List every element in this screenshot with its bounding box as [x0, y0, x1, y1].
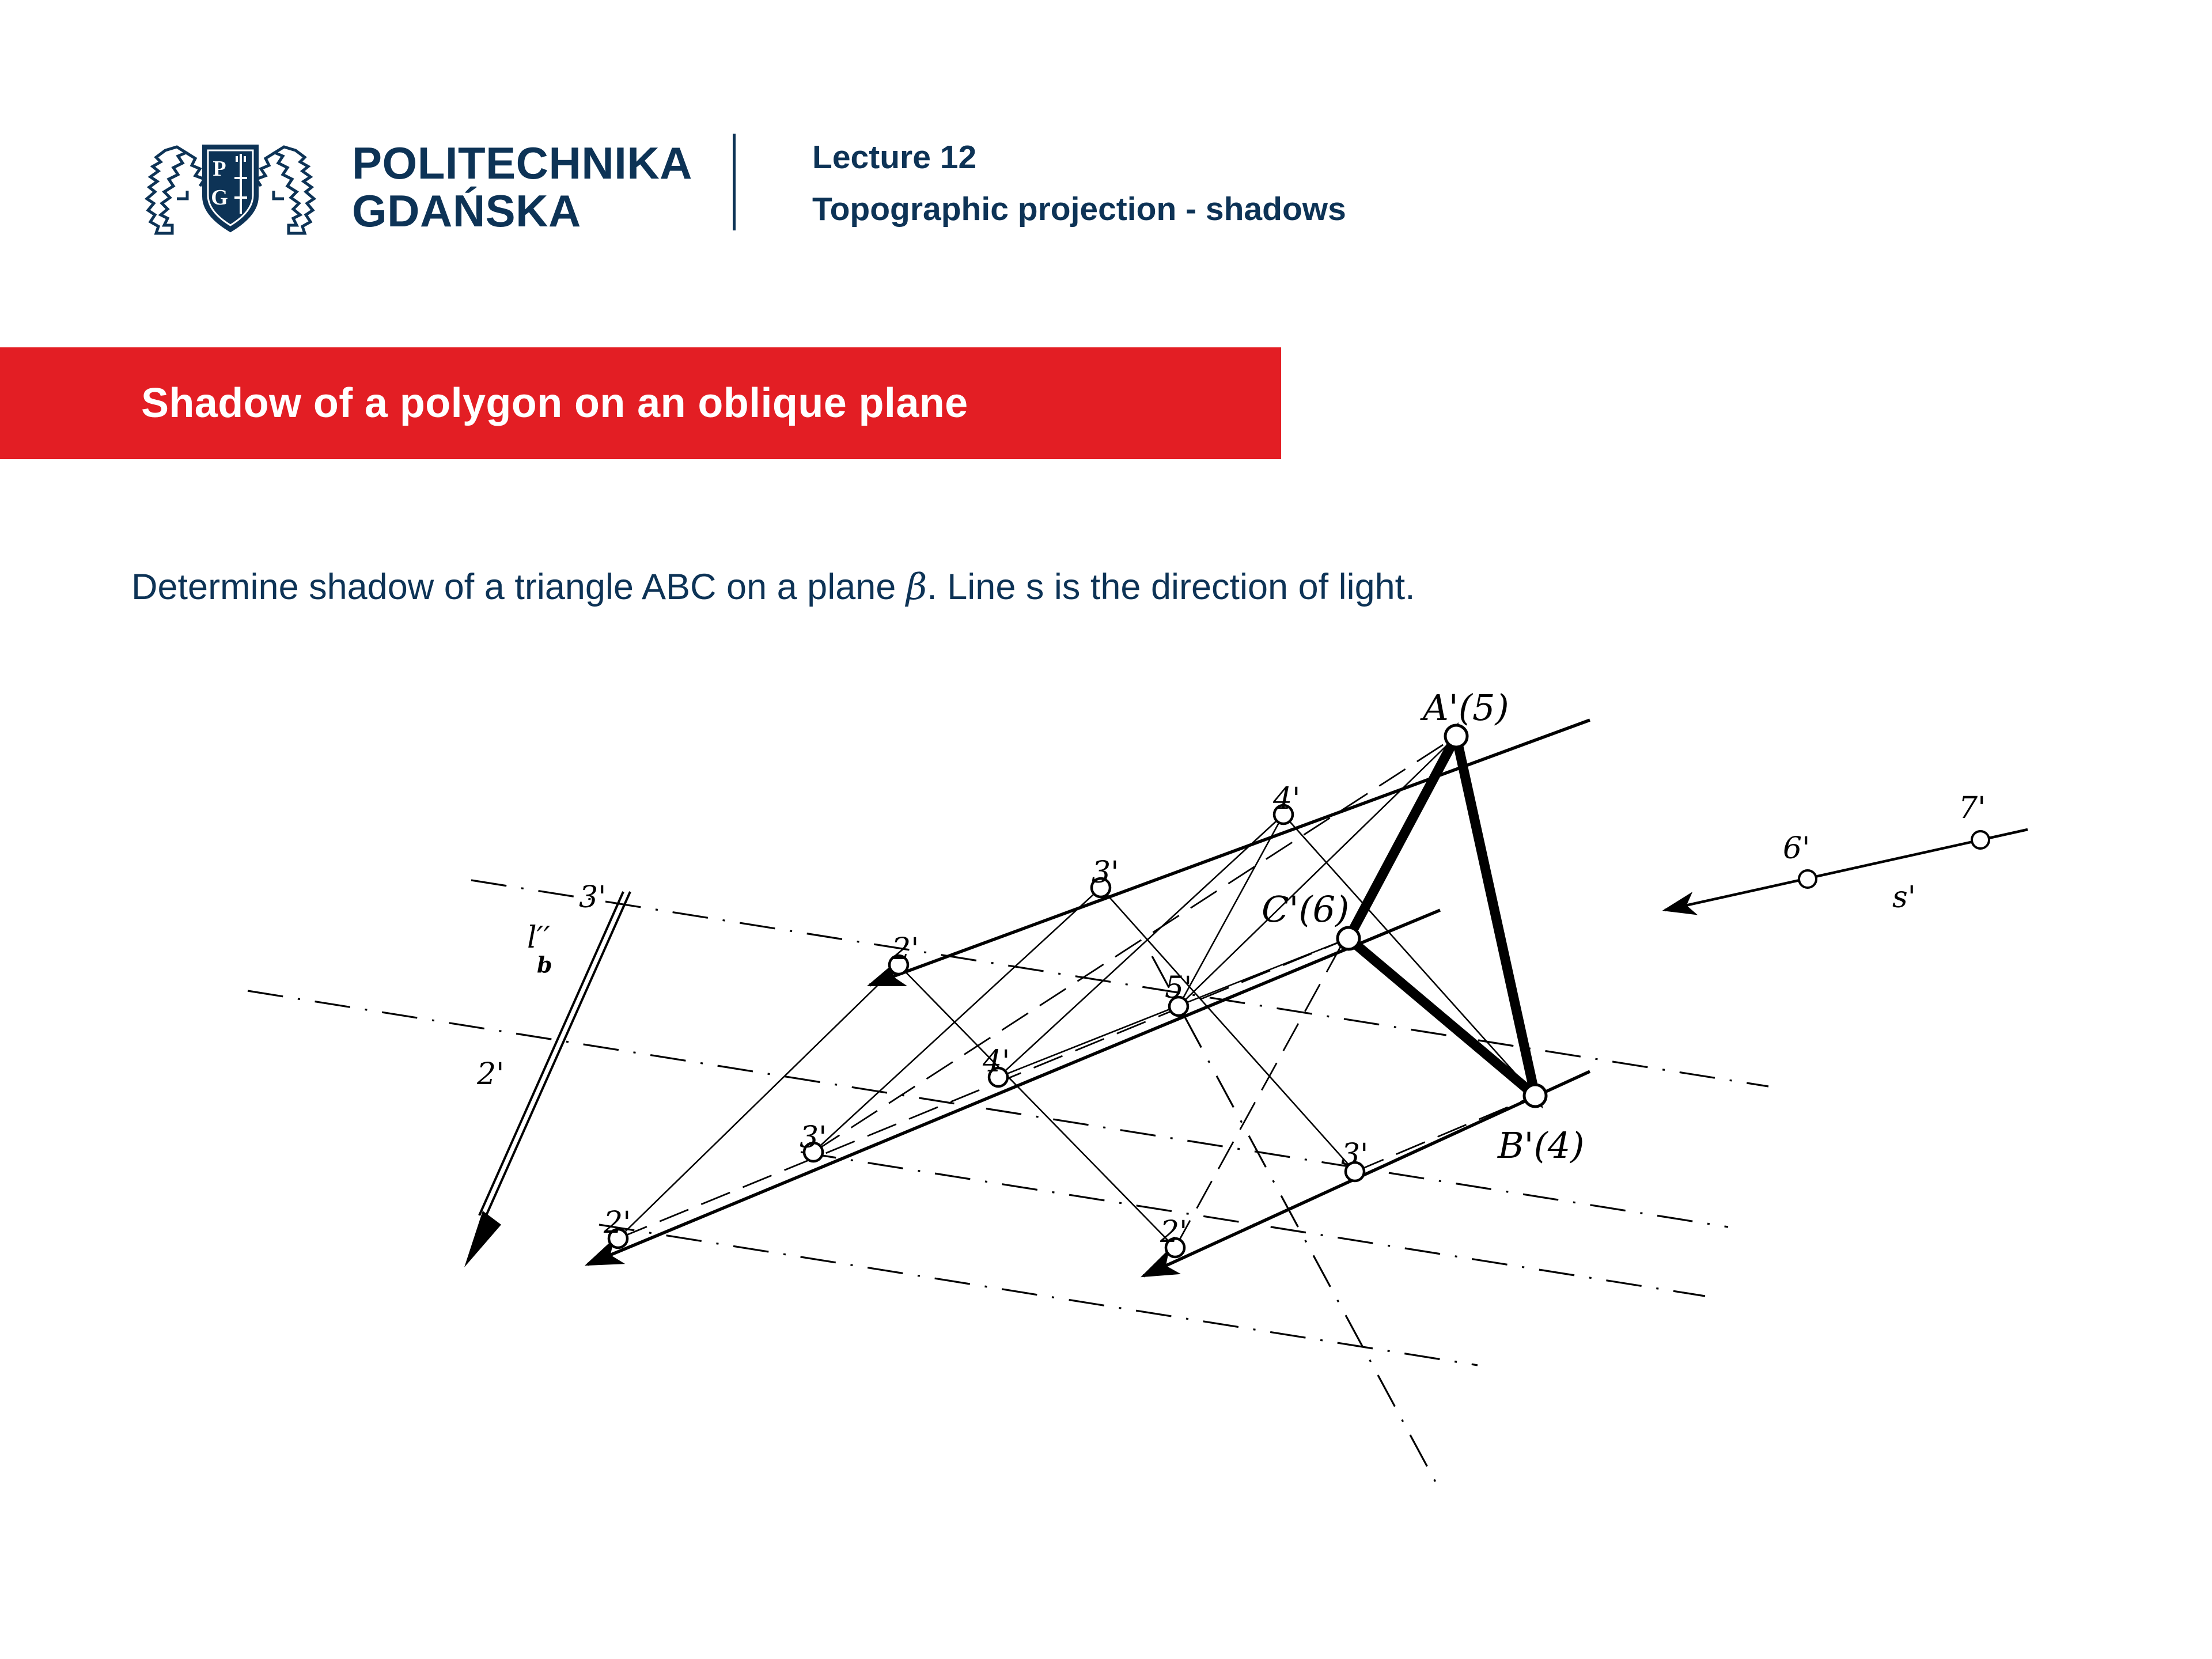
scale-line-lower — [588, 910, 1440, 1264]
university-logo-block: P G POLITECHNIKA GDAŃSKA — [135, 130, 717, 245]
projection-construction-lines — [618, 736, 1535, 1248]
contour-line-3 — [471, 880, 1768, 1086]
lecture-info: Lecture 12 Topographic projection - shad… — [812, 131, 1346, 235]
tick-label-5: 5' — [1165, 971, 1192, 1005]
svg-text:P: P — [213, 157, 226, 181]
technical-drawing: A'(5) B'(4) C'(6) 7' 6' s' l′′ b 3' 2' 2… — [0, 588, 2212, 1486]
tick-label-4: 4' — [1272, 782, 1300, 816]
vertex-marker-B — [1524, 1085, 1546, 1107]
point-6-on-s — [1799, 870, 1816, 888]
tick-label-6: 4' — [982, 1044, 1010, 1079]
tick-label-3: 3' — [1092, 855, 1119, 890]
section-title-bar: Shadow of a polygon on an oblique plane — [0, 347, 1281, 459]
shadow-ray-lines — [618, 736, 1535, 1248]
label-lb-subscript: b — [537, 952, 552, 978]
construction-svg: A'(5) B'(4) C'(6) 7' 6' s' l′′ b 3' 2' 2… — [0, 588, 2212, 1486]
tick-label-2: 2' — [891, 932, 919, 967]
tick-label-10: 3' — [1341, 1138, 1368, 1172]
page-title: Shadow of a polygon on an oblique plane — [141, 380, 968, 427]
slide-header: P G POLITECHNIKA GDAŃSKA Lecture 12 Topo… — [0, 0, 2212, 300]
label-B: B'(4) — [1497, 1124, 1584, 1166]
svg-text:G: G — [211, 185, 228, 210]
university-name: POLITECHNIKA GDAŃSKA — [352, 139, 692, 234]
label-lb: l′′ — [527, 921, 550, 955]
lecture-topic: Topographic projection - shadows — [812, 183, 1346, 235]
label-C: C'(6) — [1262, 888, 1349, 930]
label-6-on-s: 6' — [1783, 831, 1810, 866]
tick-label-8: 2' — [603, 1206, 631, 1240]
tick-label-1: 2' — [476, 1057, 504, 1092]
triangle-ABC — [1349, 736, 1535, 1096]
label-A: A'(5) — [1420, 687, 1509, 729]
tick-label-9: 2' — [1160, 1215, 1187, 1249]
lecture-number: Lecture 12 — [812, 131, 1346, 183]
label-s: s' — [1892, 880, 1916, 915]
tick-label-0: 3' — [579, 880, 606, 915]
contour-lines-beta — [248, 880, 1768, 1365]
vertex-marker-C — [1338, 927, 1359, 949]
scale-line-bottom-right — [1143, 1071, 1590, 1276]
point-7-on-s — [1972, 831, 1989, 849]
tick-label-7: 3' — [800, 1120, 827, 1155]
label-7-on-s: 7' — [1959, 791, 1986, 825]
pg-coat-of-arms-icon: P G — [135, 128, 325, 247]
header-divider — [733, 134, 736, 230]
contour-line-2b — [599, 1225, 1478, 1365]
contour-line-long — [1152, 956, 1509, 1486]
